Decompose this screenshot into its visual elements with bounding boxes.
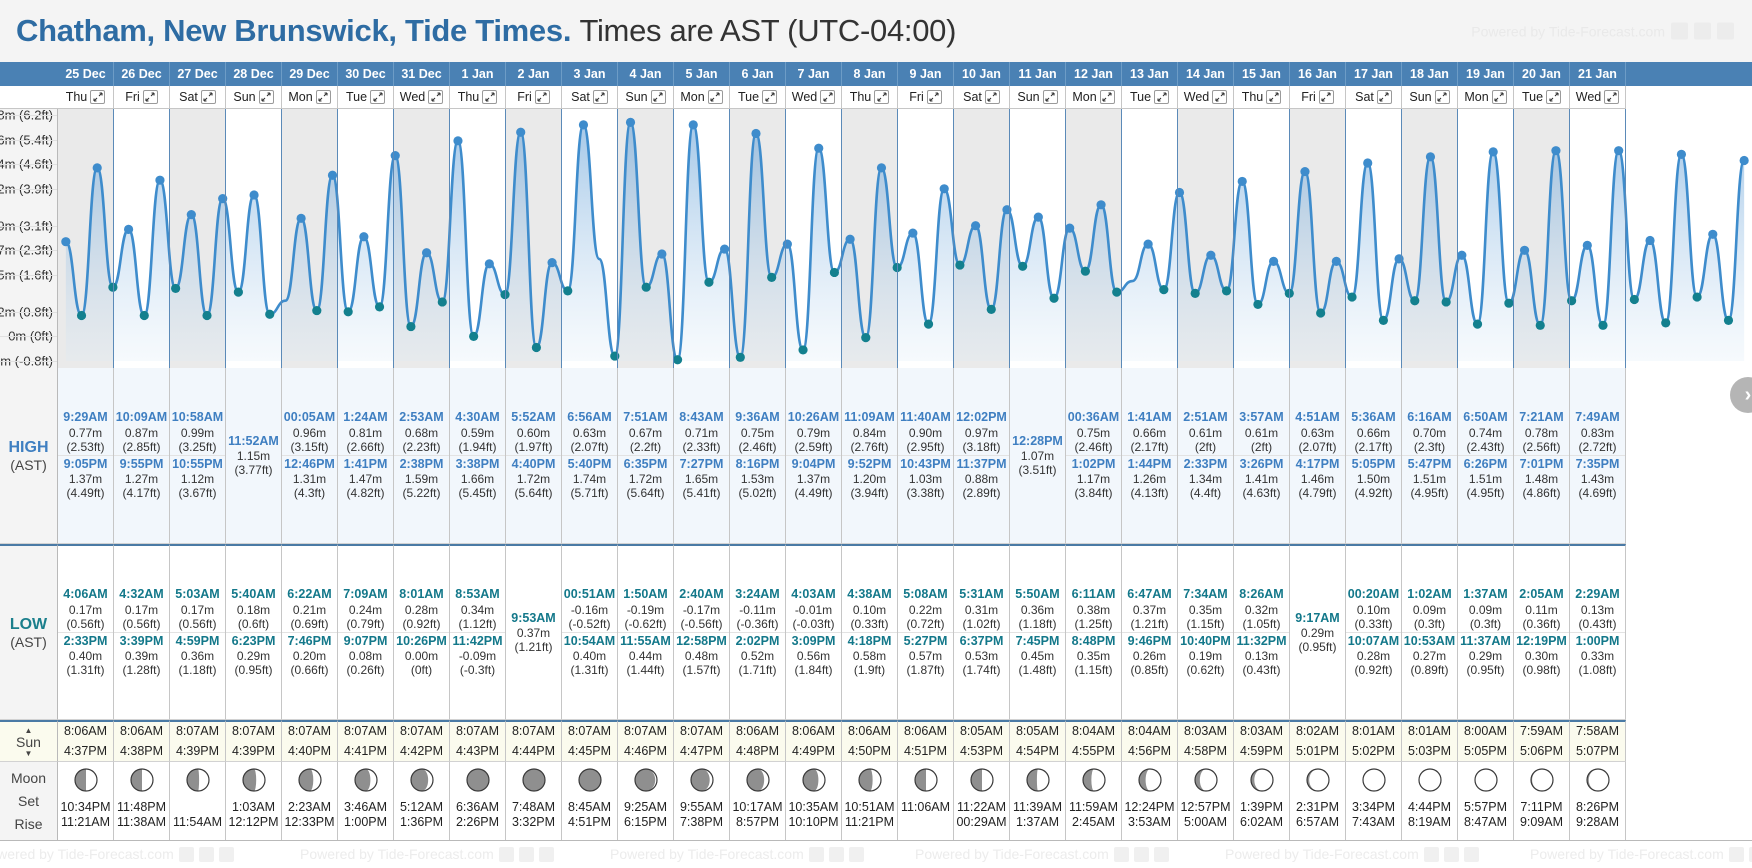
- sunrise-time: 8:07AM: [232, 722, 275, 741]
- tide-time: 5:47PM: [1402, 457, 1457, 472]
- moonrise-time: 6:02AM: [1240, 813, 1283, 828]
- tide-time: 7:49AM: [1570, 410, 1625, 425]
- sunrise-arrow-icon: ▲: [25, 727, 33, 734]
- date-header-22[interactable]: 16 Jan: [1290, 62, 1346, 86]
- date-header-1[interactable]: 26 Dec: [114, 62, 170, 86]
- tide-event: 00:36AM0.75m(2.46ft): [1066, 409, 1121, 455]
- tide-height-ft: (4.95ft): [1458, 486, 1513, 500]
- moonrise-time: 11:21PM: [845, 813, 894, 828]
- tide-event: 7:21AM0.78m(2.56ft): [1514, 409, 1569, 455]
- low-tide-point: [704, 278, 713, 287]
- row-label-high: HIGH (AST): [0, 368, 58, 544]
- high-tide-point: [1614, 146, 1623, 155]
- expand-icon[interactable]: [1154, 90, 1169, 104]
- low-tide-point: [1504, 299, 1513, 308]
- tide-event: 5:47PM1.51m(4.95ft): [1402, 455, 1457, 502]
- expand-icon[interactable]: [874, 90, 889, 104]
- day-of-week-label: Mon: [288, 90, 312, 104]
- high-tide-cell-13: 10:26AM0.79m(2.59ft)9:04PM1.37m(4.49ft): [786, 368, 842, 544]
- date-header-10[interactable]: 4 Jan: [618, 62, 674, 86]
- expand-icon[interactable]: [762, 90, 777, 104]
- expand-icon[interactable]: [482, 90, 497, 104]
- tide-height-m: 1.72m: [506, 472, 561, 486]
- high-tide-cell-16: 12:02PM0.97m(3.18ft)11:37PM0.88m(2.89ft): [954, 368, 1010, 544]
- high-tide-point: [940, 184, 949, 193]
- tide-event: 9:17AM0.29m(0.95ft): [1290, 610, 1345, 656]
- day-of-week-cell-22: Fri: [1290, 86, 1346, 109]
- high-tide-cell-9: 6:56AM0.63m(2.07ft)5:40PM1.74m(5.71ft): [562, 368, 618, 544]
- expand-icon[interactable]: [143, 90, 158, 104]
- moonrise-time: 4:51PM: [568, 813, 611, 828]
- day-of-week-label: Sun: [233, 90, 255, 104]
- moon-phase-icon: [1249, 767, 1275, 798]
- tide-event: 8:48PM0.35m(1.15ft): [1066, 632, 1121, 679]
- expand-icon[interactable]: [1266, 90, 1281, 104]
- tide-time: 5:03AM: [170, 587, 225, 602]
- date-header-2[interactable]: 27 Dec: [170, 62, 226, 86]
- tide-height-m: 0.24m: [338, 603, 393, 617]
- tide-time: 1:24AM: [338, 410, 393, 425]
- tide-time: 8:43AM: [674, 410, 729, 425]
- date-header-9[interactable]: 3 Jan: [562, 62, 618, 86]
- tide-event: 7:09AM0.24m(0.79ft): [338, 586, 393, 632]
- high-tide-point: [1363, 158, 1372, 167]
- tide-event: 10:53AM0.27m(0.89ft): [1402, 632, 1457, 679]
- tide-event: 4:30AM0.59m(1.94ft): [450, 409, 505, 455]
- footer-watermark-icon-0: [1729, 847, 1744, 862]
- tide-event: 6:16AM0.70m(2.3ft): [1402, 409, 1457, 455]
- date-header-26[interactable]: 20 Jan: [1514, 62, 1570, 86]
- tide-height-ft: (1.74ft): [954, 663, 1009, 677]
- tide-event: 4:38AM0.10m(0.33ft): [842, 586, 897, 632]
- tide-height-m: 0.63m: [562, 426, 617, 440]
- tide-event: 10:43PM1.03m(3.38ft): [898, 455, 953, 502]
- expand-icon[interactable]: [259, 90, 274, 104]
- sunset-time: 4:46PM: [624, 742, 667, 761]
- high-tide-point: [124, 225, 133, 234]
- moonset-time: 12:24PM: [1124, 798, 1174, 813]
- date-header-5[interactable]: 30 Dec: [338, 62, 394, 86]
- tide-time: 9:17AM: [1290, 611, 1345, 626]
- tide-time: 00:20AM: [1346, 587, 1401, 602]
- tide-event: 1:24AM0.81m(2.66ft): [338, 409, 393, 455]
- date-header-27[interactable]: 21 Jan: [1570, 62, 1626, 86]
- tide-event: 9:04PM1.37m(4.49ft): [786, 455, 841, 502]
- expand-icon[interactable]: [370, 90, 385, 104]
- expand-icon[interactable]: [1043, 90, 1058, 104]
- footer-watermark-icon-2: [539, 847, 554, 862]
- moonrise-time: 8:57PM: [736, 813, 779, 828]
- date-header-16[interactable]: 10 Jan: [954, 62, 1010, 86]
- tide-time: 1:50AM: [618, 587, 673, 602]
- sunset-time: 4:49PM: [792, 742, 835, 761]
- moon-phase-icon: [409, 767, 435, 798]
- date-header-13[interactable]: 7 Jan: [786, 62, 842, 86]
- moonset-time: 5:12AM: [400, 798, 443, 813]
- moonrise-time: 7:38PM: [680, 813, 723, 828]
- date-header-21[interactable]: 15 Jan: [1234, 62, 1290, 86]
- days-scroll-area[interactable]: 25 Dec26 Dec27 Dec28 Dec29 Dec30 Dec31 D…: [58, 62, 1752, 840]
- tide-time: 7:09AM: [338, 587, 393, 602]
- high-tide-point: [328, 171, 337, 180]
- moon-cell-0: 10:34PM11:21AM: [58, 762, 114, 840]
- low-tide-point: [1159, 285, 1168, 294]
- sunrise-time: 8:07AM: [344, 722, 387, 741]
- expand-icon[interactable]: [1604, 90, 1619, 104]
- moon-cell-18: 11:59AM2:45AM: [1066, 762, 1122, 840]
- date-header-18[interactable]: 12 Jan: [1066, 62, 1122, 86]
- tide-height-ft: (0.98ft): [1514, 663, 1569, 677]
- tide-time: 4:03AM: [786, 587, 841, 602]
- tide-height-ft: (3.67ft): [170, 486, 225, 500]
- expand-icon[interactable]: [1319, 90, 1334, 104]
- moon-row: 10:34PM11:21AM11:48PM11:38AM11:54AM1:03A…: [58, 762, 1752, 840]
- sunrise-time: 8:05AM: [1016, 722, 1059, 741]
- moon-phase-icon: [185, 767, 211, 798]
- tide-height-ft: (2ft): [1178, 440, 1233, 454]
- tide-event: 5:31AM0.31m(1.02ft): [954, 586, 1009, 632]
- low-tide-point: [234, 288, 243, 297]
- expand-icon[interactable]: [593, 90, 608, 104]
- tide-height-ft: (1.25ft): [1066, 617, 1121, 631]
- tide-height-ft: (-0.56ft): [674, 617, 729, 631]
- sun-cell-21: 8:03AM4:59PM: [1234, 720, 1290, 762]
- tide-time: 5:05PM: [1346, 457, 1401, 472]
- high-tide-point: [516, 128, 525, 137]
- date-header-6[interactable]: 31 Dec: [394, 62, 450, 86]
- tide-height-ft: (4.3ft): [282, 486, 337, 500]
- tide-height-m: 1.37m: [58, 472, 113, 486]
- sun-cell-17: 8:05AM4:54PM: [1010, 720, 1066, 762]
- day-of-week-label: Tue: [346, 90, 367, 104]
- high-tide-cell-1: 10:09AM0.87m(2.85ft)9:55PM1.27m(4.17ft): [114, 368, 170, 544]
- tide-height-m: 1.34m: [1178, 472, 1233, 486]
- high-tide-point: [626, 118, 635, 127]
- tide-time: 11:37AM: [1458, 634, 1513, 649]
- high-tide-point: [249, 190, 258, 199]
- watermark-icon-3: [1717, 23, 1734, 40]
- low-tide-point: [140, 311, 149, 320]
- expand-icon[interactable]: [316, 90, 331, 104]
- date-header-24[interactable]: 18 Jan: [1402, 62, 1458, 86]
- footer-watermark-3: Powered by Tide-Forecast.com: [915, 846, 1169, 862]
- tide-event: 1:44PM1.26m(4.13ft): [1122, 455, 1177, 502]
- expand-icon[interactable]: [820, 90, 835, 104]
- tide-time: 12:58PM: [674, 634, 729, 649]
- tide-time: 2:53AM: [394, 410, 449, 425]
- tide-event: 9:52PM1.20m(3.94ft): [842, 455, 897, 502]
- tide-time: 6:35PM: [618, 457, 673, 472]
- tide-event: 7:45PM0.45m(1.48ft): [1010, 632, 1065, 679]
- tide-height-ft: (1.57ft): [674, 663, 729, 677]
- sun-cell-9: 8:07AM4:45PM: [562, 720, 618, 762]
- tide-height-m: 0.75m: [730, 426, 785, 440]
- tide-table-grid: 1.8m (6.2ft)1.6m (5.4ft)1.4m (4.6ft)1.2m…: [0, 62, 1752, 840]
- tide-event: 7:49AM0.83m(2.72ft): [1570, 409, 1625, 455]
- moon-cell-9: 8:45AM4:51PM: [562, 762, 618, 840]
- day-of-week-cell-10: Sun: [618, 86, 674, 109]
- y-axis-gridline: [0, 226, 57, 227]
- tide-height-ft: (0.95ft): [1290, 640, 1345, 654]
- low-tide-cell-14: 4:38AM0.10m(0.33ft)4:18PM0.58m(1.9ft): [842, 544, 898, 720]
- tide-time: 11:37PM: [954, 457, 1009, 472]
- date-header-11[interactable]: 5 Jan: [674, 62, 730, 86]
- tide-height-m: 0.61m: [1234, 426, 1289, 440]
- expand-icon[interactable]: [1435, 90, 1450, 104]
- sun-cell-10: 8:07AM4:46PM: [618, 720, 674, 762]
- tide-height-ft: (2.17ft): [1122, 440, 1177, 454]
- moon-phase-icon: [745, 767, 771, 798]
- low-tide-point: [1724, 316, 1733, 325]
- sunrise-time: 8:07AM: [400, 722, 443, 741]
- day-of-week-cell-3: Sun: [226, 86, 282, 109]
- tide-time: 10:07AM: [1346, 634, 1401, 649]
- moon-phase-icon: [241, 767, 267, 798]
- date-header-0[interactable]: 25 Dec: [58, 62, 114, 86]
- tide-height-m: 0.17m: [170, 603, 225, 617]
- tide-height-m: 1.26m: [1122, 472, 1177, 486]
- sunset-time: 4:53PM: [960, 742, 1003, 761]
- tide-event: 10:07AM0.28m(0.92ft): [1346, 632, 1401, 679]
- tide-event: 4:06AM0.17m(0.56ft): [58, 586, 113, 632]
- low-tide-point: [375, 302, 384, 311]
- tide-height-ft: (0.95ft): [1458, 663, 1513, 677]
- tide-event: 00:05AM0.96m(3.15ft): [282, 409, 337, 455]
- expand-icon[interactable]: [535, 90, 550, 104]
- moonset-time: 5:57PM: [1464, 798, 1507, 813]
- date-header-4[interactable]: 29 Dec: [282, 62, 338, 86]
- expand-icon[interactable]: [1546, 90, 1561, 104]
- moon-phase-icon: [857, 767, 883, 798]
- day-of-week-cell-1: Fri: [114, 86, 170, 109]
- tide-event: 2:38PM1.59m(5.22ft): [394, 455, 449, 502]
- moon-phase-icon: [1529, 767, 1555, 798]
- moon-label: Moon: [11, 770, 46, 786]
- sunrise-time: 8:06AM: [736, 722, 779, 741]
- tide-height-ft: (1.21ft): [1122, 617, 1177, 631]
- footer-watermark-text: Powered by Tide-Forecast.com: [300, 846, 494, 862]
- sun-cell-23: 8:01AM5:02PM: [1346, 720, 1402, 762]
- moonset-time: 7:11PM: [1520, 798, 1562, 813]
- sunrise-time: 8:07AM: [176, 722, 219, 741]
- tide-time: 11:32PM: [1234, 634, 1289, 649]
- y-axis-gridline: [0, 140, 57, 141]
- sunset-time: 5:02PM: [1352, 742, 1395, 761]
- tide-time: 2:02PM: [730, 634, 785, 649]
- moonset-label: Set: [18, 793, 39, 809]
- expand-icon[interactable]: [927, 90, 942, 104]
- high-tide-point: [908, 228, 917, 237]
- tide-event: 12:19PM0.30m(0.98ft): [1514, 632, 1569, 679]
- moonrise-time: 2:26PM: [456, 813, 499, 828]
- tide-event: 5:03AM0.17m(0.56ft): [170, 586, 225, 632]
- moonrise-time: 2:45AM: [1072, 813, 1115, 828]
- date-header-12[interactable]: 6 Jan: [730, 62, 786, 86]
- low-tide-point: [108, 283, 117, 292]
- tide-event: 12:28PM1.07m(3.51ft): [1010, 433, 1065, 479]
- label-dow-spacer: [0, 86, 58, 109]
- tide-height-ft: (0.36ft): [1514, 617, 1569, 631]
- high-tide-point: [783, 240, 792, 249]
- moonset-time: 6:36AM: [456, 798, 499, 813]
- sunset-time: 4:59PM: [1240, 742, 1283, 761]
- tide-height-m: 0.17m: [58, 603, 113, 617]
- tide-height-m: 1.74m: [562, 472, 617, 486]
- low-tide-point: [955, 260, 964, 269]
- tide-height-m: -0.17m: [674, 603, 729, 617]
- day-of-week-label: Sat: [1355, 90, 1374, 104]
- tide-event: 2:29AM0.13m(0.43ft): [1570, 586, 1625, 632]
- tide-time: 7:45PM: [1010, 634, 1065, 649]
- low-tide-cell-11: 2:40AM-0.17m(-0.56ft)12:58PM0.48m(1.57ft…: [674, 544, 730, 720]
- low-tide-cell-1: 4:32AM0.17m(0.56ft)3:39PM0.39m(1.28ft): [114, 544, 170, 720]
- sunrise-time: 8:07AM: [568, 722, 611, 741]
- tide-height-m: -0.11m: [730, 603, 785, 617]
- expand-icon[interactable]: [428, 90, 443, 104]
- tide-height-m: 1.51m: [1458, 472, 1513, 486]
- tide-time: 6:11AM: [1066, 587, 1121, 602]
- moonrise-time: 8:19AM: [1408, 813, 1451, 828]
- tide-height-ft: (1.97ft): [506, 440, 561, 454]
- date-header-14[interactable]: 8 Jan: [842, 62, 898, 86]
- sunrise-time: 7:59AM: [1520, 722, 1563, 741]
- tide-height-m: 0.17m: [114, 603, 169, 617]
- sunset-time: 5:07PM: [1576, 742, 1619, 761]
- tide-height-m: 0.11m: [1514, 603, 1569, 617]
- tide-height-ft: (4.92ft): [1346, 486, 1401, 500]
- date-header-23[interactable]: 17 Jan: [1346, 62, 1402, 86]
- tide-height-ft: (2.46ft): [1066, 440, 1121, 454]
- tide-height-ft: (1.18ft): [1010, 617, 1065, 631]
- tide-height-ft: (0.92ft): [394, 617, 449, 631]
- day-of-week-label: Mon: [680, 90, 704, 104]
- page-title-timezone: Times are AST (UTC-04:00): [579, 13, 956, 48]
- tide-time: 1:02AM: [1402, 587, 1457, 602]
- expand-icon[interactable]: [90, 90, 105, 104]
- date-header-17[interactable]: 11 Jan: [1010, 62, 1066, 86]
- tide-height-ft: (2.2ft): [618, 440, 673, 454]
- sun-cell-19: 8:04AM4:56PM: [1122, 720, 1178, 762]
- expand-icon[interactable]: [708, 90, 723, 104]
- tide-height-ft: (4.4ft): [1178, 486, 1233, 500]
- high-tide-point: [485, 259, 494, 268]
- moon-phase-icon: [1137, 767, 1163, 798]
- date-header-7[interactable]: 1 Jan: [450, 62, 506, 86]
- tide-height-m: -0.19m: [618, 603, 673, 617]
- tide-height-m: 1.46m: [1290, 472, 1345, 486]
- day-of-week-cell-6: Wed: [394, 86, 450, 109]
- sunset-time: 5:06PM: [1520, 742, 1563, 761]
- date-header-8[interactable]: 2 Jan: [506, 62, 562, 86]
- high-tide-cell-26: 7:21AM0.78m(2.56ft)7:01PM1.48m(4.86ft): [1514, 368, 1570, 544]
- date-header-3[interactable]: 28 Dec: [226, 62, 282, 86]
- footer-watermark-text: Powered by Tide-Forecast.com: [1225, 846, 1419, 862]
- expand-icon[interactable]: [1377, 90, 1392, 104]
- tide-event: 4:03AM-0.01m(-0.03ft): [786, 586, 841, 632]
- low-tide-cell-24: 1:02AM0.09m(0.3ft)10:53AM0.27m(0.89ft): [1402, 544, 1458, 720]
- tide-height-m: 0.09m: [1402, 603, 1457, 617]
- high-tide-point: [1426, 152, 1435, 161]
- moon-phase-icon: [465, 767, 491, 798]
- tide-height-m: 0.35m: [1178, 603, 1233, 617]
- tide-height-ft: (2.85ft): [114, 440, 169, 454]
- moonrise-time: 12:33PM: [284, 813, 334, 828]
- tide-height-ft: (2.33ft): [674, 440, 729, 454]
- day-of-week-row: ThuFriSatSunMonTueWedThuFriSatSunMonTueW…: [58, 86, 1752, 109]
- moon-cell-2: 11:54AM: [170, 762, 226, 840]
- low-tide-point: [1567, 296, 1576, 305]
- tide-event: 7:01PM1.48m(4.86ft): [1514, 455, 1569, 502]
- date-header-19[interactable]: 13 Jan: [1122, 62, 1178, 86]
- sunset-time: 4:47PM: [680, 742, 723, 761]
- low-tide-point: [830, 268, 839, 277]
- tide-height-ft: (4.95ft): [1402, 486, 1457, 500]
- sun-cell-25: 8:00AM5:05PM: [1458, 720, 1514, 762]
- expand-icon[interactable]: [985, 90, 1000, 104]
- sun-cell-26: 7:59AM5:06PM: [1514, 720, 1570, 762]
- tide-height-m: 1.41m: [1234, 472, 1289, 486]
- moon-cell-13: 10:35AM10:10PM: [786, 762, 842, 840]
- date-header-15[interactable]: 9 Jan: [898, 62, 954, 86]
- tide-time: 7:51AM: [618, 410, 673, 425]
- day-of-week-cell-25: Mon: [1458, 86, 1514, 109]
- sunset-time: 4:54PM: [1016, 742, 1059, 761]
- sun-cell-4: 8:07AM4:40PM: [282, 720, 338, 762]
- moon-cell-4: 2:23AM12:33PM: [282, 762, 338, 840]
- moonset-time: 10:17AM: [732, 798, 782, 813]
- low-tide-point: [1473, 320, 1482, 329]
- high-tide-cell-18: 00:36AM0.75m(2.46ft)1:02PM1.17m(3.84ft): [1066, 368, 1122, 544]
- moon-cell-6: 5:12AM1:36PM: [394, 762, 450, 840]
- expand-icon[interactable]: [1100, 90, 1115, 104]
- expand-icon[interactable]: [651, 90, 666, 104]
- tide-curve-chart[interactable]: [58, 109, 1752, 368]
- tide-height-ft: (2.95ft): [898, 440, 953, 454]
- sunrise-time: 8:05AM: [960, 722, 1003, 741]
- footer-watermark-1: Powered by Tide-Forecast.com: [300, 846, 554, 862]
- date-header-20[interactable]: 14 Jan: [1178, 62, 1234, 86]
- tide-height-ft: (3.77ft): [226, 463, 281, 477]
- low-tide-point: [1191, 289, 1200, 298]
- expand-icon[interactable]: [1212, 90, 1227, 104]
- high-tide-point: [359, 232, 368, 241]
- sunrise-time: 8:06AM: [848, 722, 891, 741]
- footer-watermark-text: Powered by Tide-Forecast.com: [610, 846, 804, 862]
- footer-watermark-icon-0: [809, 847, 824, 862]
- expand-icon[interactable]: [1492, 90, 1507, 104]
- expand-icon[interactable]: [201, 90, 216, 104]
- low-tide-point: [1112, 288, 1121, 297]
- tide-event: 9:36AM0.75m(2.46ft): [730, 409, 785, 455]
- tide-height-ft: (0.6ft): [226, 617, 281, 631]
- moon-cell-25: 5:57PM8:47AM: [1458, 762, 1514, 840]
- tide-height-m: 0.36m: [1010, 603, 1065, 617]
- tide-event: 4:59PM0.36m(1.18ft): [170, 632, 225, 679]
- tide-height-ft: (0.72ft): [898, 617, 953, 631]
- date-header-25[interactable]: 19 Jan: [1458, 62, 1514, 86]
- row-label-moon: Moon Set Rise: [0, 762, 58, 840]
- tide-time: 2:33PM: [1178, 457, 1233, 472]
- tide-time: 5:31AM: [954, 587, 1009, 602]
- high-tide-point: [1457, 251, 1466, 260]
- moonset-time: 9:55AM: [680, 798, 723, 813]
- low-tide-point: [1661, 318, 1670, 327]
- tide-time: 6:26PM: [1458, 457, 1513, 472]
- tide-time: 8:16PM: [730, 457, 785, 472]
- tide-height-m: 0.99m: [170, 426, 225, 440]
- tide-height-m: 1.43m: [1570, 472, 1625, 486]
- sun-cell-15: 8:06AM4:51PM: [898, 720, 954, 762]
